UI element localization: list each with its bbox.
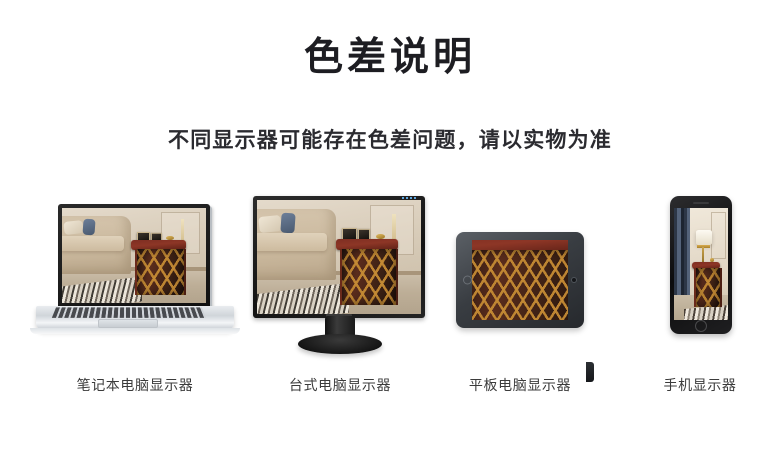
phone-screen	[674, 208, 728, 320]
scene-table-lattice-body	[340, 249, 398, 305]
phone-body	[670, 196, 732, 334]
device-tablet: 平板电脑显示器	[450, 196, 590, 396]
scene-lattice-side-table	[339, 239, 395, 305]
scene-sofa-cushion	[257, 233, 327, 251]
room-scene-image	[674, 208, 728, 320]
monitor-screen	[257, 200, 421, 314]
scene-lattice-side-table	[134, 240, 183, 295]
scene-lattice-side-table	[472, 240, 568, 320]
device-caption-phone: 手机显示器	[664, 376, 737, 394]
tablet-home-button	[463, 276, 472, 285]
scene-pillow-blue	[83, 219, 96, 236]
scene-wall-panel	[711, 212, 726, 259]
scene-sofa-cushion	[62, 236, 124, 251]
tablet-screen	[472, 240, 568, 320]
room-scene-image	[472, 240, 568, 320]
scene-sofa	[257, 209, 336, 280]
scene-pillow	[258, 215, 282, 233]
scene-pillow	[63, 220, 84, 235]
scene-table-lattice-body	[472, 250, 568, 320]
room-scene-image	[62, 208, 206, 303]
device-phone: 手机显示器	[645, 196, 755, 396]
phone-speaker-grill	[693, 202, 709, 204]
laptop-foot	[30, 328, 240, 334]
device-caption-desktop-monitor: 台式电脑显示器	[289, 376, 391, 394]
laptop-screen	[62, 208, 206, 303]
page-title: 色差说明	[0, 36, 780, 80]
device-caption-laptop: 笔记本电脑显示器	[77, 376, 194, 394]
tablet-body	[456, 232, 584, 328]
device-caption-tablet: 平板电脑显示器	[469, 376, 571, 394]
monitor-stand-base	[298, 334, 382, 354]
monitor-indicator-leds	[402, 197, 418, 199]
scene-pillow-blue	[280, 213, 295, 234]
monitor-bezel	[253, 196, 425, 318]
scene-table-lattice-body	[694, 268, 722, 306]
device-desktop-monitor: 台式电脑显示器	[245, 196, 435, 396]
laptop-lid	[58, 204, 210, 308]
room-scene-image	[257, 200, 421, 314]
scene-sofa	[62, 216, 131, 275]
laptop-base	[36, 306, 234, 330]
phone-home-button	[695, 320, 707, 332]
scene-lattice-side-table	[693, 262, 718, 307]
laptop-trackpad	[98, 319, 158, 328]
scene-trinket	[376, 234, 385, 239]
scene-lampshade	[696, 230, 712, 245]
device-row: 笔记本电脑显示器	[0, 196, 780, 396]
tablet-side-nub	[586, 362, 594, 382]
scene-table-lattice-body	[135, 249, 186, 296]
page-subtitle: 不同显示器可能存在色差问题，请以实物为准	[0, 126, 780, 156]
device-laptop: 笔记本电脑显示器	[28, 196, 242, 396]
tablet-camera-icon	[571, 277, 577, 283]
laptop-keyboard	[52, 307, 206, 317]
